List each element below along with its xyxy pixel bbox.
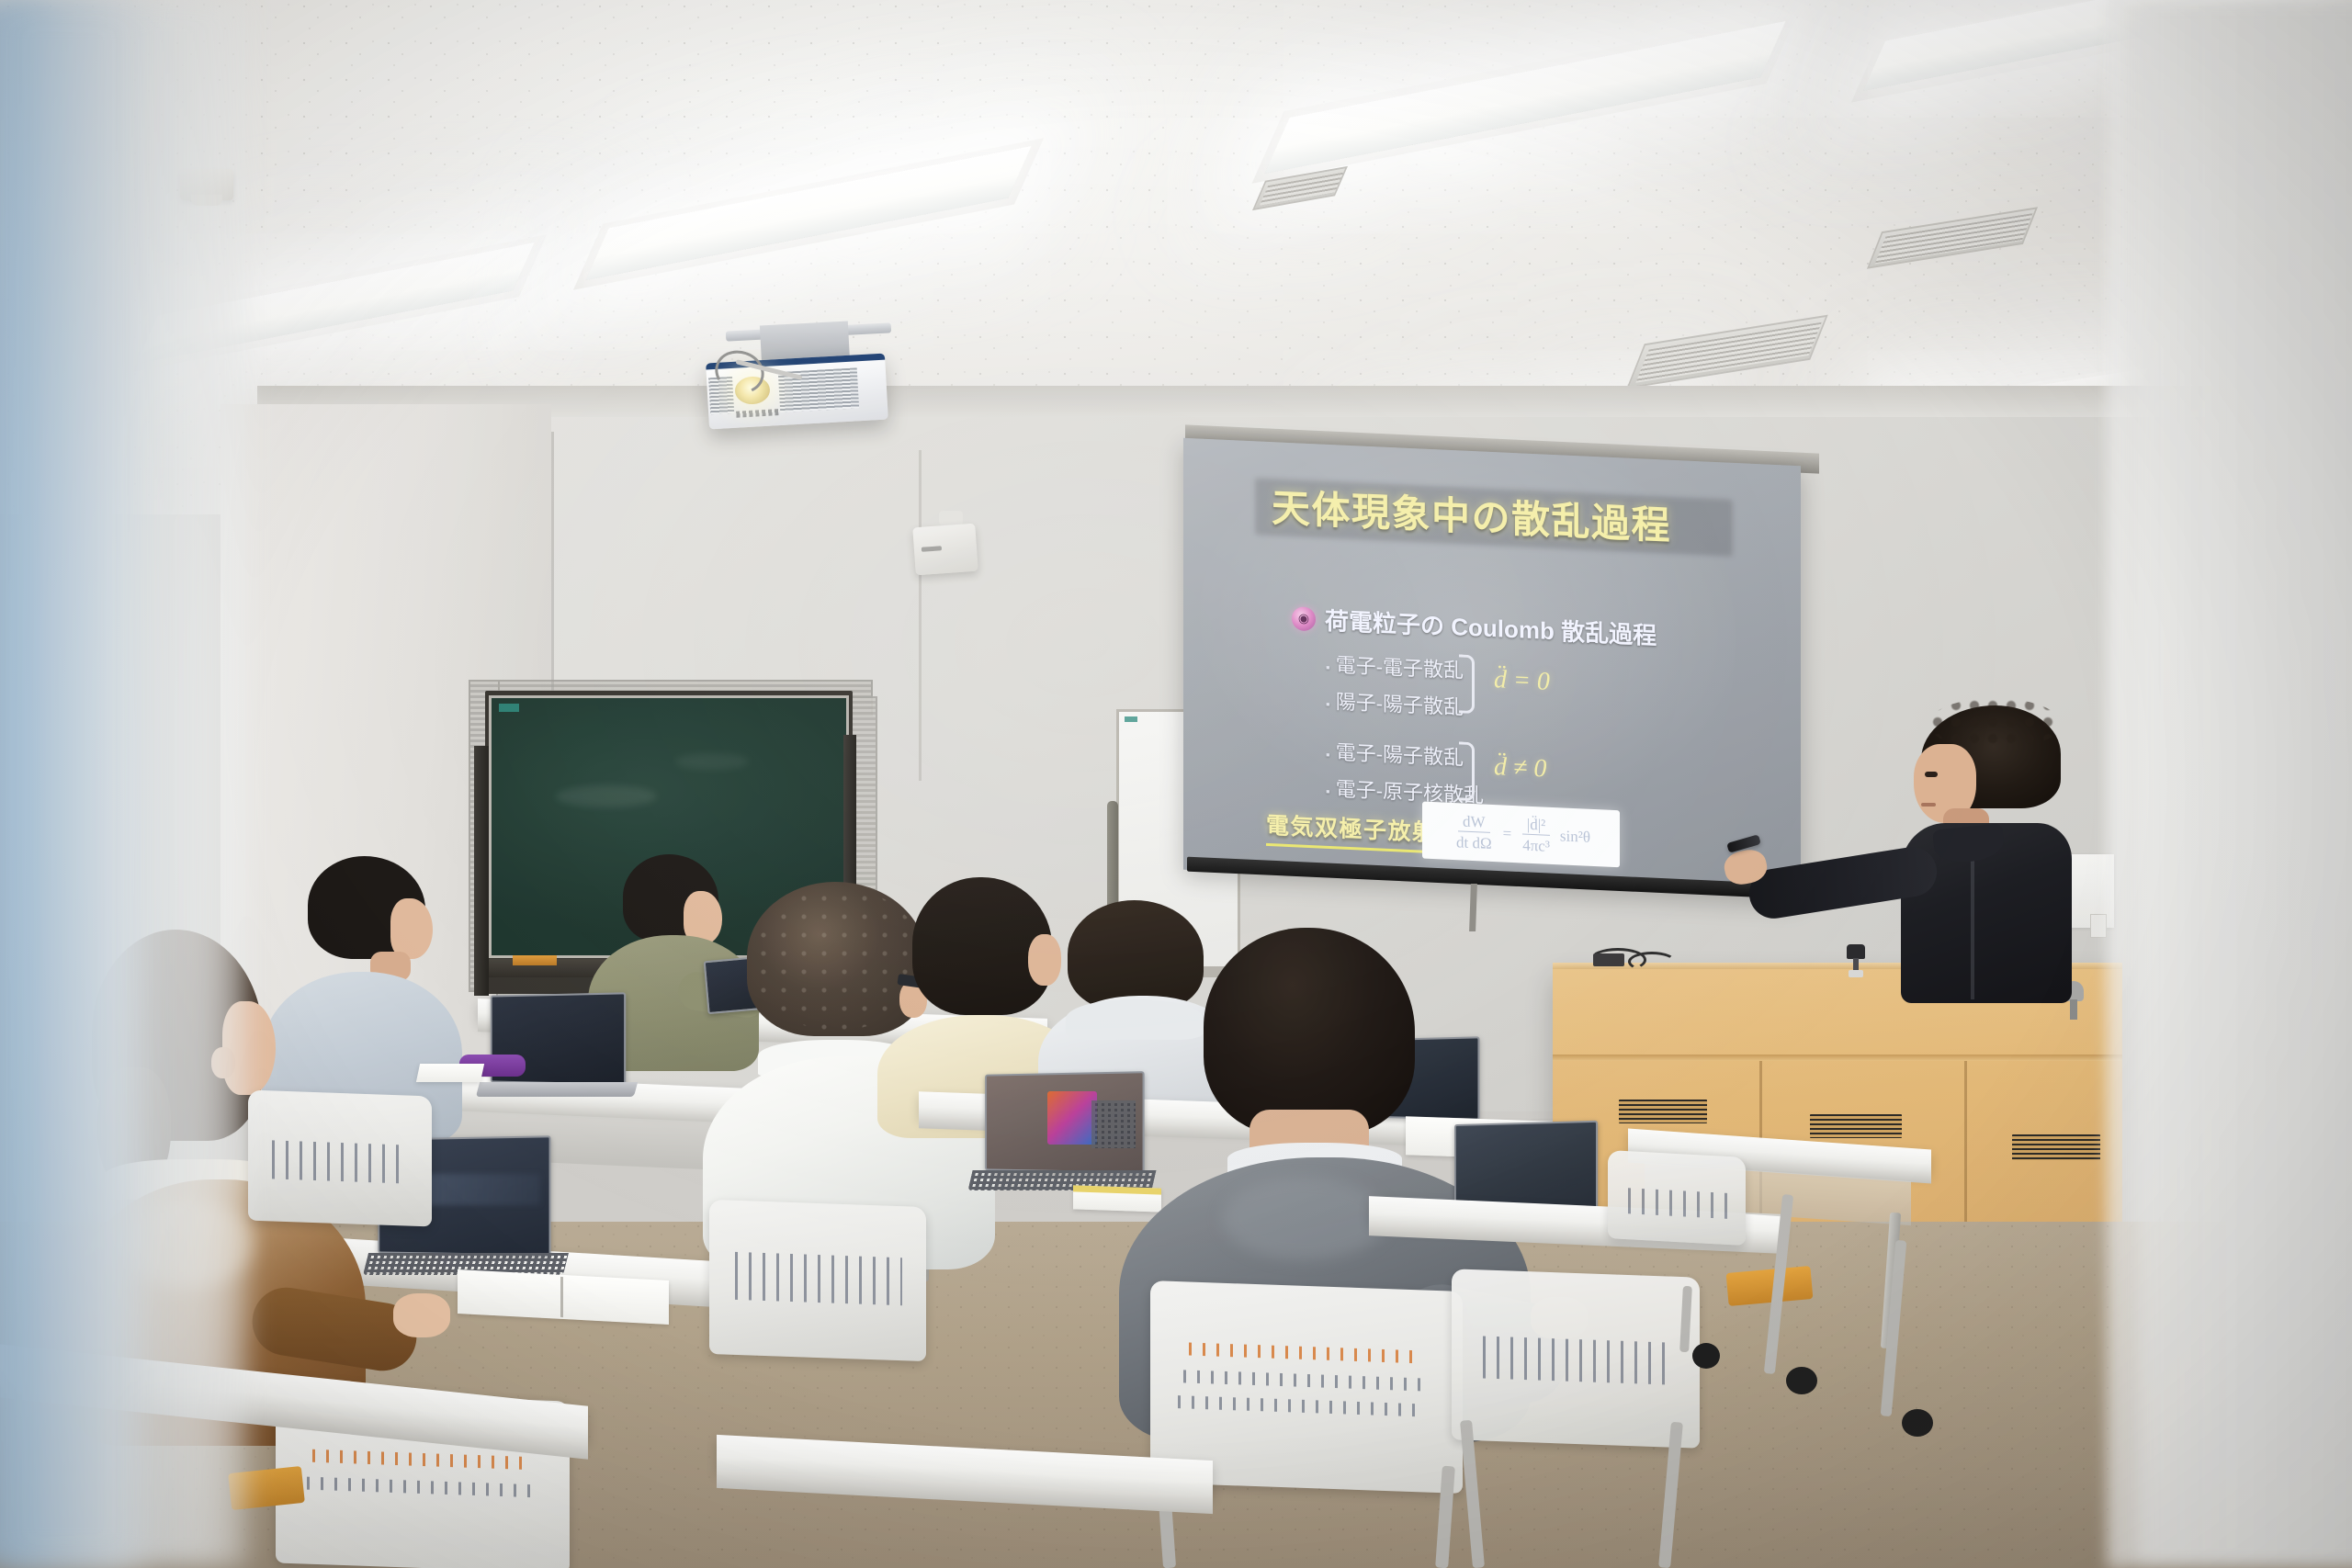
classroom-photo: 天体現象中の散乱過程 ◉ 荷電粒子の Coulomb 散乱過程 ▪ 電子-電子散… [0, 0, 2352, 1568]
chalkboard-corner-tag [499, 704, 519, 712]
foreground-pillar-right [2109, 0, 2352, 1568]
chair-front-right-dashes-gray-2 [1178, 1395, 1424, 1416]
chair-center-front-dashes [735, 1252, 902, 1305]
chair-left-mid[interactable] [248, 1090, 432, 1227]
chalk-box [513, 955, 557, 965]
student-1-hand [393, 1293, 450, 1337]
slide-result-2: d̈ ≠ 0 [1494, 752, 1546, 784]
slide-bullet-2: ▪ 陽子-陽子散乱 [1326, 685, 1464, 721]
formula-lhs: dW dt dΩ [1452, 813, 1497, 852]
chair-left-mid-dashes [272, 1140, 408, 1183]
podium-cable-2 [1628, 952, 1676, 972]
slide-bullet-3: ▪ 電子-陽子散乱 [1326, 736, 1464, 772]
bracket-group-2 [1459, 741, 1475, 801]
bullet-marker-3: ▪ [1326, 748, 1330, 761]
podium-vent-3 [2012, 1134, 2100, 1160]
chair-left-foreground-dashes-orange [312, 1450, 531, 1470]
speaker-mount [939, 511, 963, 525]
student-7-hair [1204, 928, 1415, 1135]
chair-mid-right-dashes [1483, 1336, 1670, 1384]
presenter-hair-wisps [1928, 698, 2061, 750]
laptop-student-5-wallpaper [1047, 1091, 1097, 1145]
bullet-marker-4: ▪ [1326, 784, 1330, 798]
chair-left-foreground-dashes-gray [307, 1477, 537, 1498]
podium-vent-1 [1619, 1100, 1707, 1123]
slide-bullet-1: ▪ 電子-電子散乱 [1326, 649, 1464, 684]
desk-microphone-stem [2070, 999, 2077, 1020]
formula-equals: = [1503, 825, 1512, 843]
bracket-group-1 [1459, 654, 1475, 714]
presenter-mouth [1921, 803, 1936, 807]
podium-band [1553, 1055, 2122, 1061]
projector-label [736, 409, 778, 418]
projection-screen: 天体現象中の散乱過程 ◉ 荷電粒子の Coulomb 散乱過程 ▪ 電子-電子散… [1183, 438, 1801, 898]
laptop-student-2-base[interactable] [476, 1082, 638, 1097]
chalkboard-rail-left [474, 746, 489, 996]
podium-vent-2 [1810, 1114, 1902, 1138]
presenter-eye [1925, 772, 1938, 777]
pink-circle-icon: ◉ [1292, 606, 1316, 631]
chair-front-right-dashes-gray-1 [1183, 1370, 1424, 1391]
presenter [1833, 705, 2072, 999]
paper-sheet-row2 [416, 1064, 484, 1082]
student-7-shoulder-seam [1222, 1178, 1387, 1260]
foreground-pillar-left-core [0, 0, 138, 1568]
chair-podium-side[interactable] [1608, 1150, 1746, 1246]
bullet-marker-2: ▪ [1326, 697, 1330, 711]
open-book-spine [560, 1277, 563, 1317]
presenter-shirt-placket [1971, 843, 1974, 999]
formula-trailing: sin²θ [1560, 827, 1590, 847]
wall-speaker-icon [912, 524, 978, 576]
whiteboard-corner-tag [1125, 716, 1137, 722]
wall-switch-plate[interactable] [2090, 914, 2107, 938]
chair-podium-caster-2 [1902, 1409, 1933, 1437]
foreground-pillar-right-edge [2106, 0, 2120, 1568]
wall-panel-seam-2 [919, 450, 922, 781]
chair-podium-side-dashes [1628, 1188, 1727, 1219]
chair-front-right-dashes-orange [1189, 1343, 1420, 1364]
chair-mid-right-caster [1692, 1343, 1720, 1369]
formula-rhs-fraction: |d̈|² 4πc³ [1518, 816, 1555, 854]
bullet-marker-1: ▪ [1326, 660, 1330, 674]
student-2-face [390, 898, 433, 959]
slide-formula-box: dW dt dΩ = |d̈|² 4πc³ sin²θ [1422, 802, 1620, 868]
slide-result-1: d̈ = 0 [1494, 665, 1550, 697]
wall-soffit [257, 386, 2352, 417]
chair-center-front[interactable] [709, 1200, 926, 1361]
chair-mid-right[interactable] [1452, 1269, 1700, 1448]
chair-podium-caster-1 [1786, 1367, 1817, 1394]
podium-connector-panel [1593, 953, 1624, 966]
